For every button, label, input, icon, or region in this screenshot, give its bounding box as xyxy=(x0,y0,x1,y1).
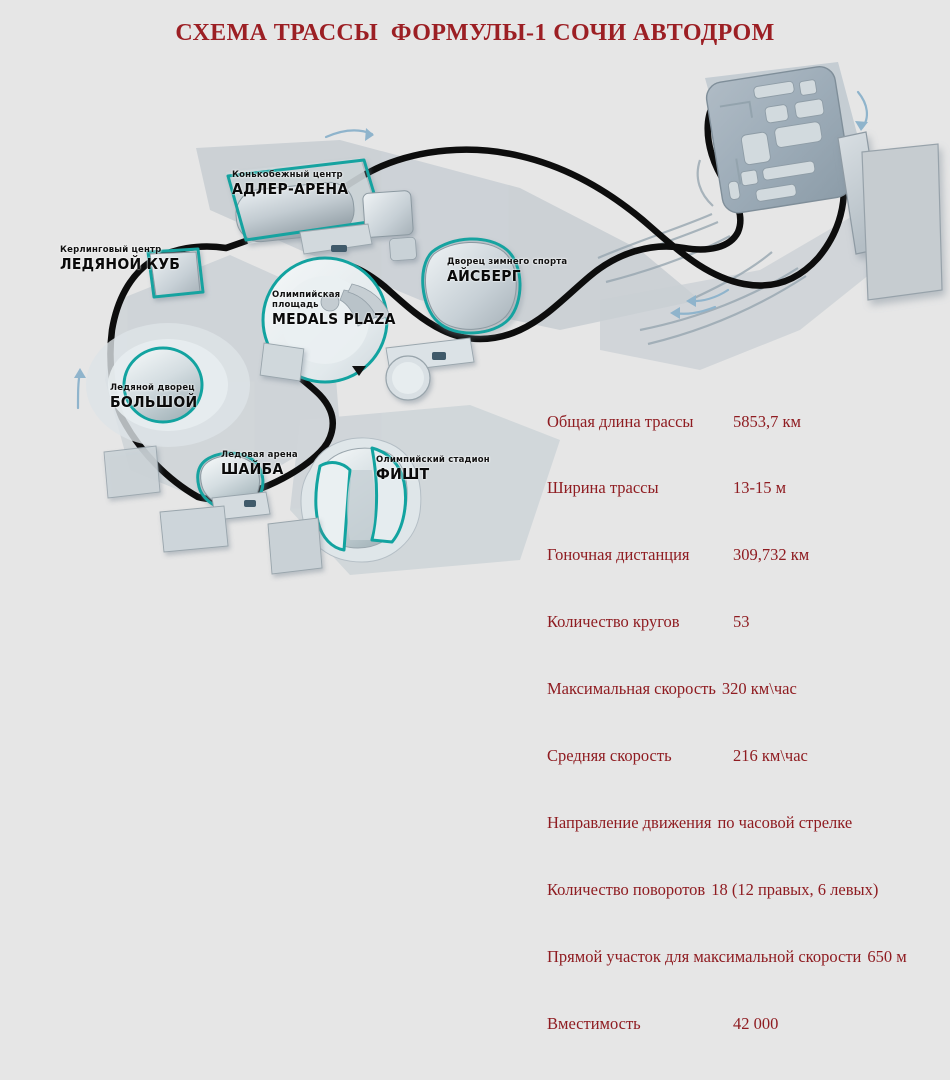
venue-ice-cube xyxy=(148,249,203,297)
spec-row: Средняя скорость216 км\час xyxy=(547,745,907,767)
spec-row: Ширина трассы13-15 м xyxy=(547,477,907,499)
spec-value: по часовой стрелке xyxy=(717,812,852,834)
spec-row: Гоночная дистанция309,732 км xyxy=(547,544,907,566)
spec-value: 216 км\час xyxy=(733,745,808,767)
track-specifications: Общая длина трассы5853,7 км Ширина трасс… xyxy=(547,366,907,1080)
venue-outline-teal xyxy=(124,348,202,422)
spec-row: Максимальная скорость320 км\час xyxy=(547,678,907,700)
paddock-building xyxy=(765,104,789,123)
spec-value: 5853,7 км xyxy=(733,411,801,433)
paddock-building xyxy=(741,132,771,166)
direction-arrow-top xyxy=(326,128,374,141)
spec-label: Прямой участок для максимальной скорости xyxy=(547,946,867,968)
spec-value: 42 000 xyxy=(733,1013,778,1035)
direction-arrow-left xyxy=(74,368,86,408)
spec-value: 309,732 км xyxy=(733,544,809,566)
spec-label: Ширина трассы xyxy=(547,477,733,499)
spec-value: 650 м xyxy=(867,946,906,968)
spec-label: Количество поворотов xyxy=(547,879,711,901)
spec-value: 13-15 м xyxy=(733,477,786,499)
spec-row: Направление движенияпо часовой стрелке xyxy=(547,812,907,834)
paddock-building xyxy=(799,79,817,95)
spec-value: 18 (12 правых, 6 левых) xyxy=(711,879,878,901)
spec-label: Средняя скорость xyxy=(547,745,733,767)
spec-label: Вместимость xyxy=(547,1013,733,1035)
spec-label: Максимальная скорость xyxy=(547,678,722,700)
page-title: СХЕМА ТРАССЫ ФОРМУЛЫ-1 СОЧИ АВТОДРОМ xyxy=(0,20,950,47)
paddock-building xyxy=(740,170,758,186)
direction-arrow-pit xyxy=(855,92,868,131)
spec-row: Общая длина трассы5853,7 км xyxy=(547,411,907,433)
spec-row: Количество поворотов18 (12 правых, 6 лев… xyxy=(547,879,907,901)
spec-label: Гоночная дистанция xyxy=(547,544,733,566)
spec-label: Направление движения xyxy=(547,812,717,834)
venue-bolshoy xyxy=(86,323,250,447)
track-map-poster: СХЕМА ТРАССЫ ФОРМУЛЫ-1 СОЧИ АВТОДРОМ Кон… xyxy=(0,0,950,615)
venue-iceberg xyxy=(423,239,520,333)
spec-row: Вместимость42 000 xyxy=(547,1013,907,1035)
venue-field xyxy=(347,470,375,540)
spec-label: Общая длина трассы xyxy=(547,411,733,433)
spec-value: 320 км\час xyxy=(722,678,797,700)
spec-row: Прямой участок для максимальной скорости… xyxy=(547,946,907,968)
parking-slab xyxy=(862,144,942,300)
